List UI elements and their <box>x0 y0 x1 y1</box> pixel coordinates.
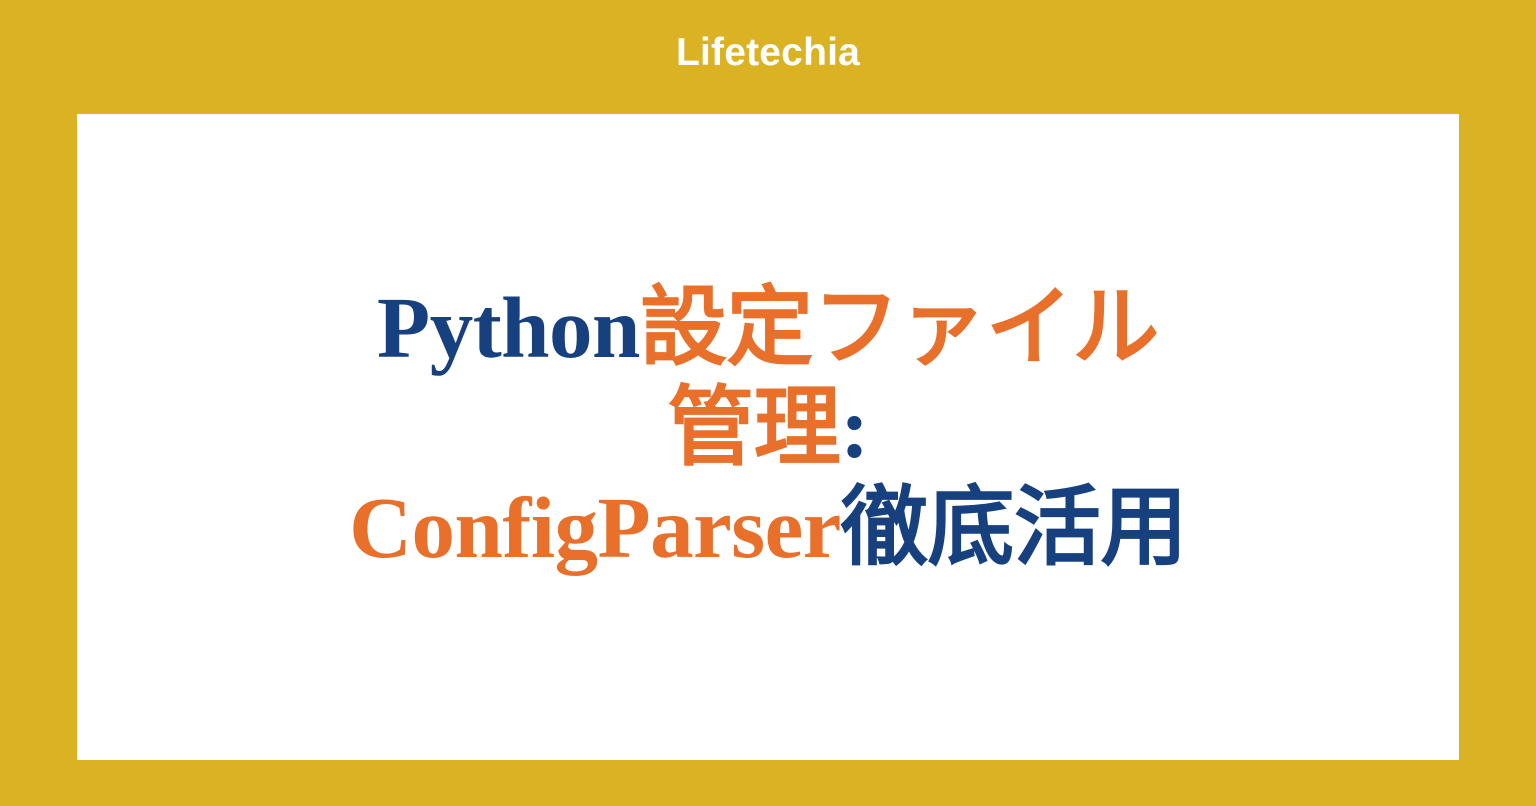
title-segment-settings-file: 設定ファイル <box>640 279 1159 376</box>
article-title: Python設定ファイル 管理: ConfigParser徹底活用 <box>77 278 1459 596</box>
title-line-2: 管理: <box>77 378 1459 478</box>
thumbnail-canvas: Lifetechia Python設定ファイル 管理: ConfigParser… <box>0 0 1536 806</box>
brand-name: Lifetechia <box>676 33 860 72</box>
title-line-1: Python設定ファイル <box>77 278 1459 378</box>
brand-header: Lifetechia <box>0 0 1536 114</box>
title-segment-python: Python <box>377 279 640 376</box>
title-segment-configparser: ConfigParser <box>349 479 841 576</box>
title-segment-thorough-use: 徹底活用 <box>841 479 1187 576</box>
title-line-3: ConfigParser徹底活用 <box>77 478 1459 578</box>
title-segment-colon: : <box>840 379 868 476</box>
content-card: Python設定ファイル 管理: ConfigParser徹底活用 <box>77 114 1459 760</box>
title-segment-management: 管理 <box>667 379 840 476</box>
